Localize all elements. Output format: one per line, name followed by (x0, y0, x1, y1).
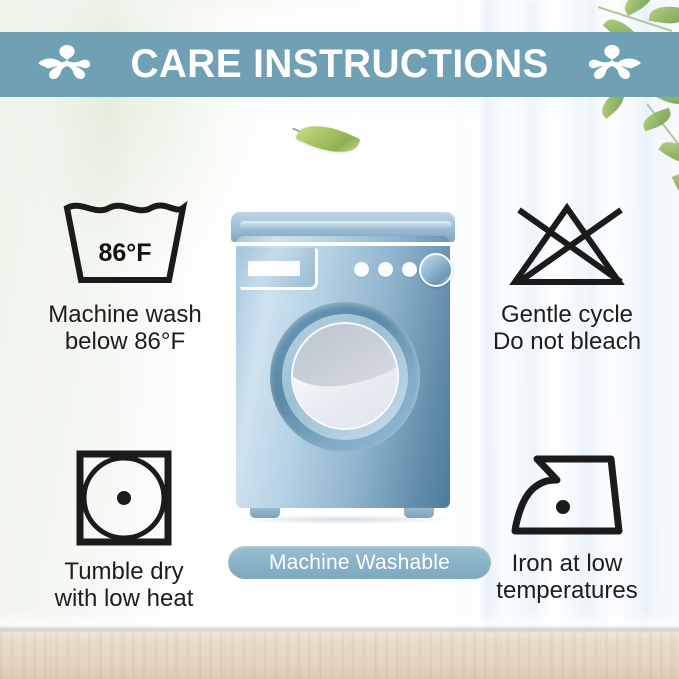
care-symbol-machine-wash: 86°F Machine wash below 86°F (10, 196, 240, 356)
fleur-de-lis-icon-right (581, 41, 643, 89)
triangle-crossed-out-icon (497, 196, 637, 294)
wash-temperature-value: 86°F (57, 196, 193, 292)
washer-indicator-light (378, 262, 393, 277)
washer-panel-divider (236, 242, 450, 246)
machine-washable-badge: Machine Washable (228, 546, 491, 579)
washer-indicator-light (354, 262, 369, 277)
washer-indicator-lights (354, 262, 417, 277)
care-symbol-machine-wash-label: Machine wash below 86°F (48, 302, 201, 356)
table-edge (0, 626, 679, 633)
tumble-dry-square-icon (73, 447, 175, 549)
page-title: CARE INSTRUCTIONS (130, 42, 548, 87)
fleur-de-lis-icon-left (36, 41, 98, 89)
wash-tub-icon: 86°F (57, 196, 193, 292)
care-symbol-tumble-dry: Tumble dry with low heat (14, 447, 234, 613)
iron-icon (499, 447, 635, 541)
machine-washable-badge-label: Machine Washable (269, 551, 450, 575)
washer-control-knob (419, 253, 453, 287)
washer-detergent-drawer (240, 248, 318, 290)
care-symbol-iron-label: Iron at low temperatures (496, 551, 637, 605)
table-highlight (0, 611, 679, 627)
washer-door-glass-rim (291, 322, 399, 430)
washer-indicator-light (402, 262, 417, 277)
care-symbol-gentle-cycle-label: Gentle cycle Do not bleach (493, 302, 641, 356)
care-instructions-graphic: CARE INSTRUCTIONS 86°F Machine wash belo… (0, 0, 679, 679)
care-symbol-iron: Iron at low temperatures (455, 447, 679, 605)
wood-grain-texture (0, 633, 679, 679)
header-banner: CARE INSTRUCTIONS (0, 32, 679, 97)
care-symbol-tumble-dry-label: Tumble dry with low heat (55, 559, 194, 613)
washing-machine-illustration (228, 206, 458, 536)
care-symbol-gentle-cycle-no-bleach: Gentle cycle Do not bleach (455, 196, 679, 356)
washer-drawer-slot (248, 261, 300, 276)
